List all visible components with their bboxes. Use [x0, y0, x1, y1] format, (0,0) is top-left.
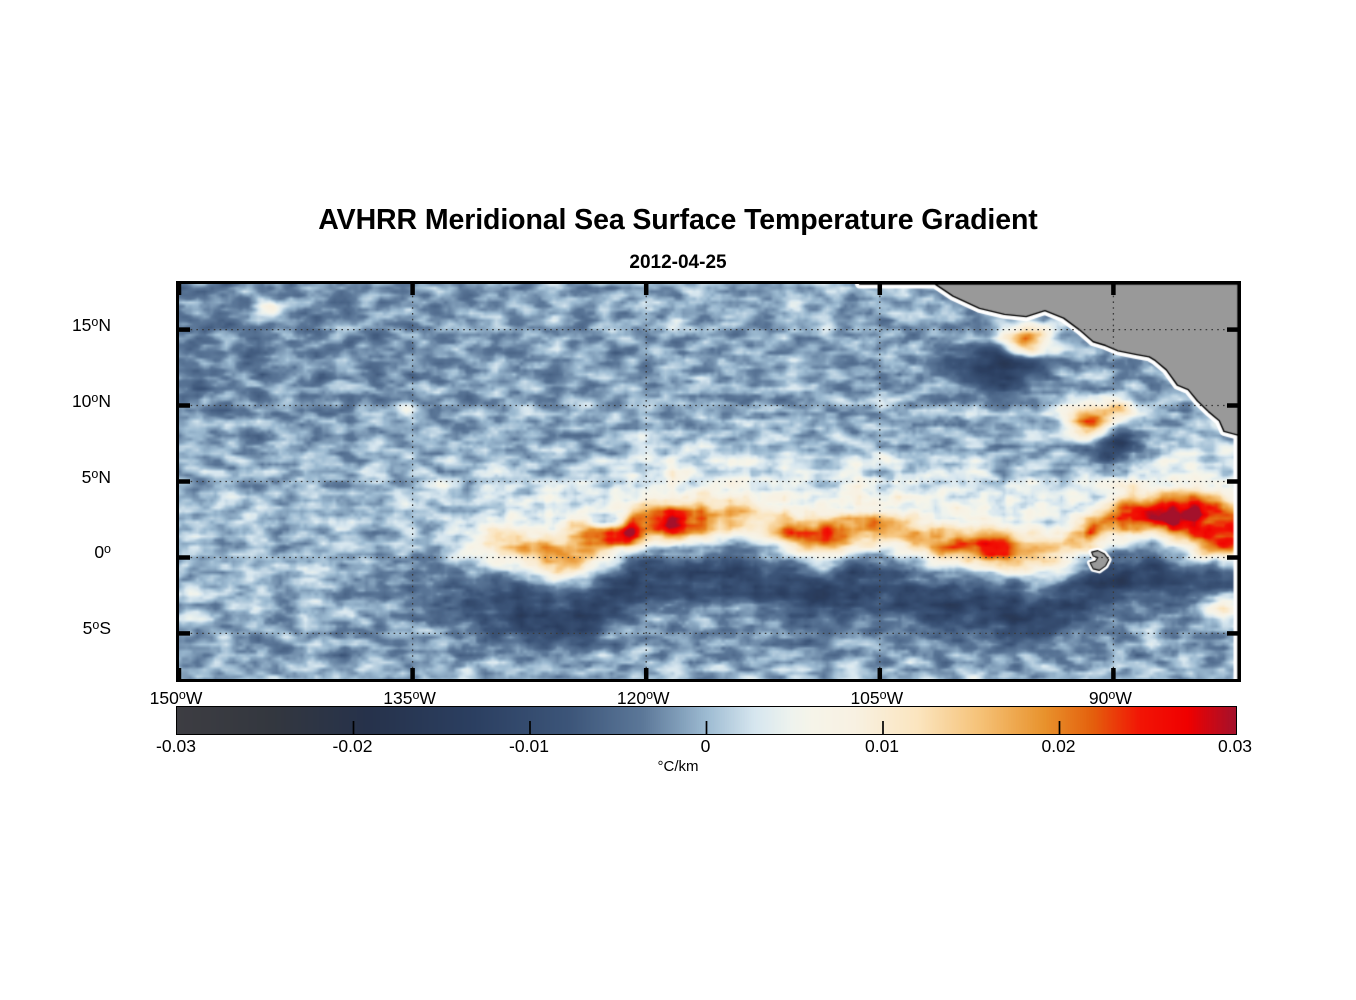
x-tick-label: 105oW — [850, 690, 903, 708]
y-tick-label: 0o — [94, 544, 111, 562]
y-tick-label: 5oN — [82, 469, 111, 487]
sst-gradient-heatmap — [179, 284, 1238, 679]
x-tick-label: 135oW — [383, 690, 436, 708]
colorbar-tick-label: 0.03 — [1218, 738, 1252, 756]
colorbar-tick-label: 0.02 — [1041, 738, 1075, 756]
x-tick-label: 150oW — [150, 690, 203, 708]
colorbar-gradient — [177, 707, 1236, 734]
x-tick-label: 120oW — [617, 690, 670, 708]
colorbar — [176, 706, 1237, 735]
colorbar-tick-label: -0.03 — [156, 738, 196, 756]
colorbar-unit-label: °C/km — [0, 758, 1356, 775]
colorbar-tick-label: 0 — [701, 738, 711, 756]
page-title: AVHRR Meridional Sea Surface Temperature… — [0, 204, 1356, 237]
figure-canvas: AVHRR Meridional Sea Surface Temperature… — [0, 0, 1356, 1000]
figure-subtitle: 2012-04-25 — [0, 252, 1356, 274]
y-tick-label: 15oN — [72, 317, 111, 335]
colorbar-tick-label: -0.01 — [509, 738, 549, 756]
y-tick-label: 5oS — [83, 620, 111, 638]
map-plot-area — [176, 281, 1241, 682]
colorbar-tick-label: 0.01 — [865, 738, 899, 756]
x-tick-label: 90oW — [1089, 690, 1132, 708]
colorbar-tick-label: -0.02 — [333, 738, 373, 756]
y-tick-label: 10oN — [72, 393, 111, 411]
